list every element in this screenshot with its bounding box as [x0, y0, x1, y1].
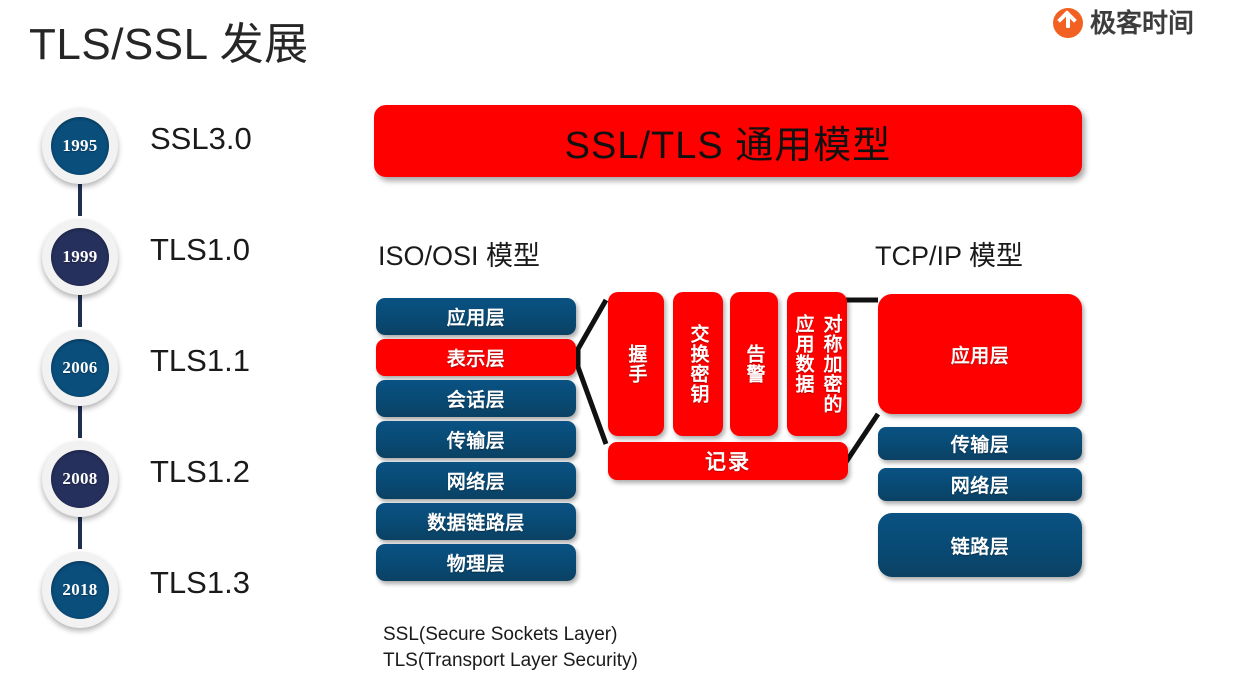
tcpip-layer-box[interactable]: 网络层 — [878, 468, 1082, 501]
tcpip-layer-box[interactable]: 应用层 — [878, 294, 1082, 414]
timeline-circle-ring: 1999 — [42, 219, 118, 295]
timeline-item[interactable]: 2006TLS1.1 — [38, 327, 338, 407]
timeline-connector — [78, 517, 82, 549]
footnotes: SSL(Secure Sockets Layer) TLS(Transport … — [383, 622, 638, 674]
model-banner: SSL/TLS 通用模型 — [374, 105, 1082, 177]
brand-logo: 极客时间 — [1053, 5, 1223, 41]
protocol-box-line1: 交换密钥 — [685, 324, 712, 404]
timeline-item[interactable]: 2008TLS1.2 — [38, 438, 338, 518]
timeline-label: TLS1.1 — [150, 343, 250, 379]
osi-layer-box[interactable]: 传输层 — [376, 421, 576, 458]
timeline-connector — [78, 295, 82, 327]
protocol-box-line1: 对称加密的 — [818, 314, 845, 414]
timeline-item[interactable]: 1995SSL3.0 — [38, 105, 338, 185]
tcpip-layer-box[interactable]: 传输层 — [878, 427, 1082, 460]
geektime-logo-icon — [1053, 8, 1083, 38]
timeline-year: 2006 — [62, 358, 97, 378]
timeline: 1995SSL3.01999TLS1.02006TLS1.12008TLS1.2… — [38, 105, 338, 650]
timeline-year: 2018 — [62, 580, 97, 600]
protocol-box-text: 告警 — [741, 344, 768, 384]
brand-name: 极客时间 — [1090, 8, 1194, 38]
osi-layer-box[interactable]: 应用层 — [376, 298, 576, 335]
osi-layer-box[interactable]: 表示层 — [376, 339, 576, 376]
slide-canvas: 极客时间 TLS/SSL 发展 1995SSL3.01999TLS1.02006… — [0, 0, 1237, 697]
protocol-box-line2: 应用数据 — [790, 314, 817, 414]
protocol-box-text: 交换密钥 — [685, 324, 712, 404]
timeline-circle: 2008 — [51, 450, 109, 508]
timeline-circle-ring: 2008 — [42, 441, 118, 517]
tcpip-layer-box[interactable]: 链路层 — [878, 513, 1082, 577]
timeline-item[interactable]: 1999TLS1.0 — [38, 216, 338, 296]
osi-layer-box[interactable]: 物理层 — [376, 544, 576, 581]
model-banner-label: SSL/TLS 通用模型 — [565, 114, 892, 169]
timeline-circle: 1995 — [51, 117, 109, 175]
timeline-year: 1999 — [62, 247, 97, 267]
osi-layer-box[interactable]: 数据链路层 — [376, 503, 576, 540]
osi-model-heading: ISO/OSI 模型 — [378, 234, 540, 273]
timeline-label: TLS1.3 — [150, 565, 250, 601]
protocol-box[interactable]: 交换密钥 — [673, 292, 723, 436]
page-title: TLS/SSL 发展 — [29, 8, 309, 72]
timeline-year: 2008 — [62, 469, 97, 489]
timeline-circle: 2006 — [51, 339, 109, 397]
protocol-box-line1: 告警 — [741, 344, 768, 384]
osi-layer-box[interactable]: 网络层 — [376, 462, 576, 499]
protocol-box[interactable]: 对称加密的应用数据 — [787, 292, 847, 436]
footnote-tls: TLS(Transport Layer Security) — [383, 648, 638, 674]
timeline-connector — [78, 184, 82, 216]
protocol-box[interactable]: 握手 — [608, 292, 664, 436]
timeline-connector — [78, 406, 82, 438]
timeline-label: TLS1.0 — [150, 232, 250, 268]
protocol-box-line1: 握手 — [623, 344, 650, 384]
protocol-box-text: 握手 — [623, 344, 650, 384]
timeline-circle: 1999 — [51, 228, 109, 286]
timeline-circle: 2018 — [51, 561, 109, 619]
footnote-ssl: SSL(Secure Sockets Layer) — [383, 622, 638, 648]
tcpip-model-heading: TCP/IP 模型 — [875, 234, 1023, 273]
protocol-box-text: 对称加密的应用数据 — [790, 314, 845, 414]
timeline-circle-ring: 2006 — [42, 330, 118, 406]
timeline-year: 1995 — [62, 136, 97, 156]
osi-layer-box[interactable]: 会话层 — [376, 380, 576, 417]
timeline-label: SSL3.0 — [150, 121, 252, 157]
timeline-circle-ring: 1995 — [42, 108, 118, 184]
protocol-box[interactable]: 告警 — [730, 292, 778, 436]
record-layer-box: 记录 — [608, 442, 848, 480]
timeline-item[interactable]: 2018TLS1.3 — [38, 549, 338, 629]
timeline-circle-ring: 2018 — [42, 552, 118, 628]
timeline-label: TLS1.2 — [150, 454, 250, 490]
